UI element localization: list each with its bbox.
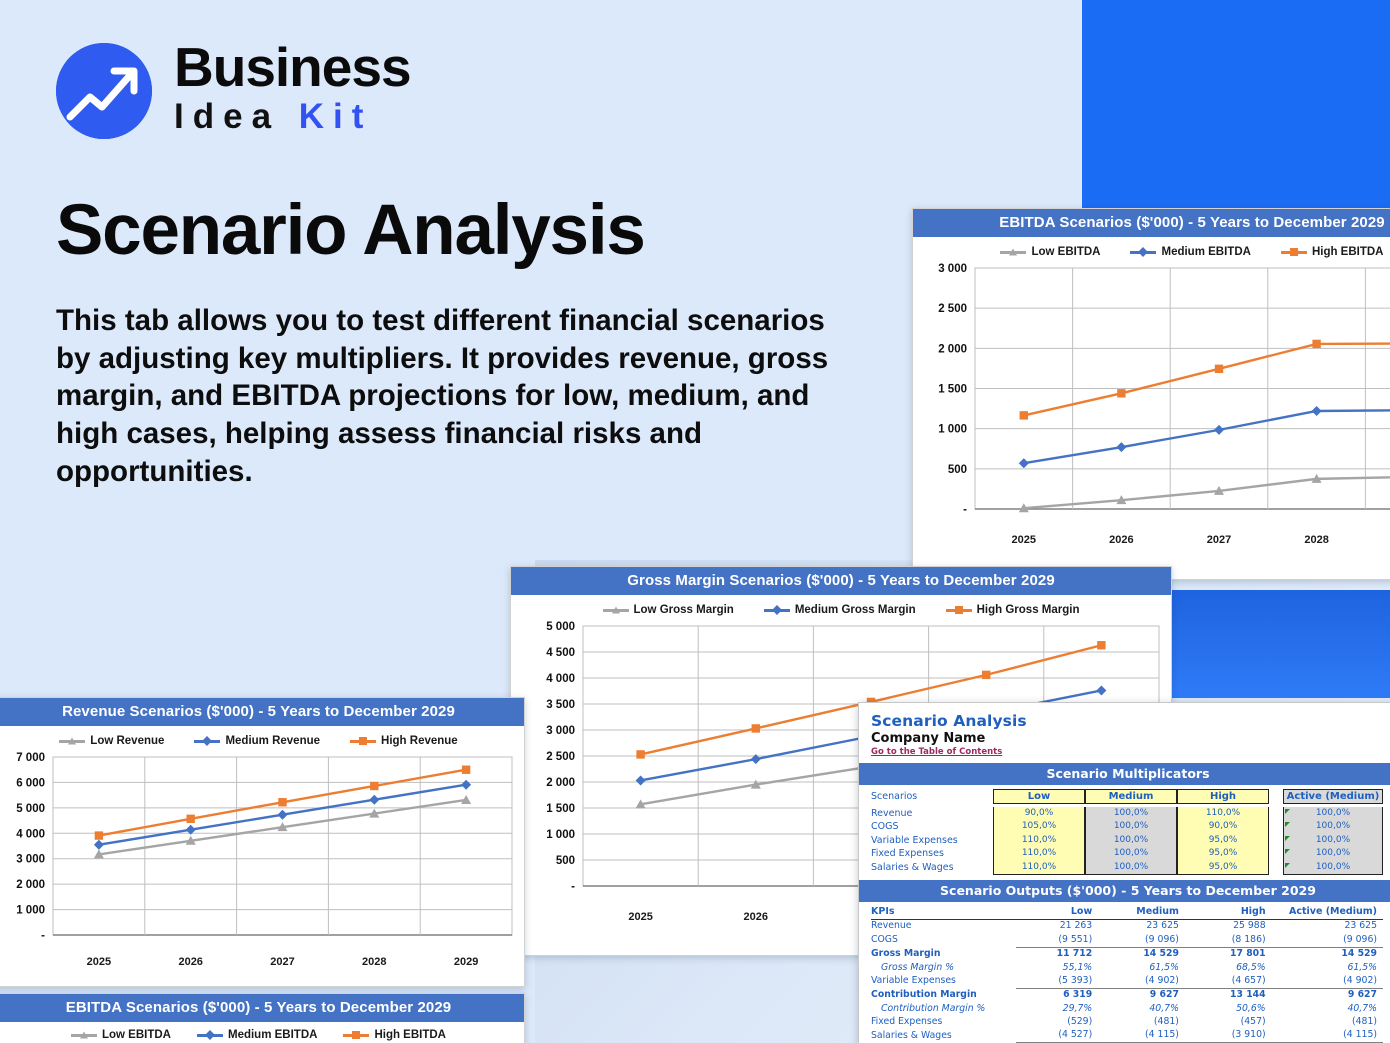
legend-item-low[interactable]: Low EBITDA: [71, 1029, 171, 1041]
multiplicator-row-label: Fixed Expenses: [871, 847, 993, 860]
outputs-value-active: (4 115): [1276, 1029, 1383, 1043]
outputs-value-high: (457): [1189, 1016, 1276, 1029]
outputs-value-medium: (4 115): [1102, 1029, 1189, 1043]
active-column-header: Active (Medium): [1283, 789, 1383, 804]
page-title: Scenario Analysis: [56, 195, 856, 266]
svg-text:5 000: 5 000: [16, 803, 45, 815]
svg-text:-: -: [963, 504, 967, 516]
outputs-col-low: Low: [1016, 905, 1103, 920]
svg-text:500: 500: [556, 855, 575, 867]
multiplicator-cell[interactable]: 105,0%: [994, 820, 1084, 833]
decorative-blue-block-top-right: [1082, 0, 1390, 210]
svg-text:1 000: 1 000: [546, 829, 575, 841]
brand-name-kit: Kit: [299, 97, 373, 136]
high-series-swatch: [946, 609, 972, 612]
active-cell: 100,0%: [1284, 807, 1382, 820]
outputs-row: Contribution Margin6 3199 62713 1449 627: [871, 988, 1383, 1002]
outputs-row: COGS(9 551)(9 096)(8 186)(9 096): [871, 933, 1383, 947]
outputs-value-high: 13 144: [1189, 988, 1276, 1002]
outputs-value-active: (481): [1276, 1016, 1383, 1029]
medium-series-swatch: [1130, 251, 1156, 254]
legend-item-low[interactable]: Low EBITDA: [1000, 246, 1100, 258]
svg-text:1 500: 1 500: [938, 384, 967, 396]
active-cell: 100,0%: [1284, 820, 1382, 833]
svg-text:1 500: 1 500: [546, 803, 575, 815]
header-block: Business Idea Kit Scenario Analysis This…: [56, 40, 856, 491]
multiplicator-column-body: 90,0%105,0%110,0%110,0%110,0%: [993, 807, 1085, 875]
legend-item-high[interactable]: High EBITDA: [1281, 246, 1384, 258]
brand-logo: Business Idea Kit: [56, 40, 856, 143]
medium-series-swatch: [197, 1034, 223, 1037]
ebitda-chart-title: EBITDA Scenarios ($'000) - 5 Years to De…: [913, 209, 1390, 237]
outputs-value-low: (5 393): [1016, 975, 1103, 989]
outputs-value-medium: 9 627: [1102, 988, 1189, 1002]
multiplicator-row-label: Variable Expenses: [871, 834, 993, 847]
svg-text:2025: 2025: [1012, 534, 1036, 546]
growth-arrow-icon: [56, 43, 152, 139]
legend-item-medium[interactable]: Medium Revenue: [194, 735, 320, 747]
multiplicator-row-label: COGS: [871, 820, 993, 833]
outputs-value-medium: 40,7%: [1102, 1002, 1189, 1015]
revenue-chart-title: Revenue Scenarios ($'000) - 5 Years to D…: [0, 698, 524, 726]
svg-text:2026: 2026: [1109, 534, 1133, 546]
decorative-blue-block-middle-right: [1172, 590, 1390, 698]
multiplicator-cell[interactable]: 110,0%: [994, 861, 1084, 874]
outputs-kpi-label: COGS: [871, 933, 1016, 947]
outputs-value-low: (4 527): [1016, 1029, 1103, 1043]
outputs-kpi-label: Variable Expenses: [871, 975, 1016, 989]
legend-item-low[interactable]: Low Revenue: [59, 735, 164, 747]
scenario-outputs-table: KPIs Low Medium High Active (Medium) Rev…: [871, 905, 1383, 1043]
outputs-value-high: 68,5%: [1189, 961, 1276, 974]
active-cell: 100,0%: [1284, 834, 1382, 847]
svg-text:4 000: 4 000: [16, 828, 45, 840]
multiplicator-column-body: 100,0%100,0%100,0%100,0%100,0%: [1085, 807, 1177, 875]
svg-text:3 000: 3 000: [546, 725, 575, 737]
legend-label-high: High Gross Margin: [977, 604, 1080, 616]
legend-label-high: High EBITDA: [374, 1029, 446, 1041]
outputs-row: Contribution Margin %29,7%40,7%50,6%40,7…: [871, 1002, 1383, 1015]
outputs-kpi-label: Contribution Margin %: [871, 1002, 1016, 1015]
outputs-value-active: 61,5%: [1276, 961, 1383, 974]
multiplicator-cell[interactable]: 100,0%: [1086, 807, 1176, 820]
outputs-kpi-label: Gross Margin %: [871, 961, 1016, 974]
high-series-swatch: [343, 1034, 369, 1037]
high-series-swatch: [350, 740, 376, 743]
svg-text:2027: 2027: [1207, 534, 1231, 546]
page-description: This tab allows you to test different fi…: [56, 302, 846, 491]
svg-text:2025: 2025: [87, 956, 111, 968]
multiplicator-cell[interactable]: 95,0%: [1178, 861, 1268, 874]
legend-label-medium: Medium EBITDA: [228, 1029, 317, 1041]
multiplicator-active-column: Active (Medium)100,0%100,0%100,0%100,0%1…: [1283, 789, 1383, 875]
ebitda-bottom-chart-title: EBITDA Scenarios ($'000) - 5 Years to De…: [0, 994, 524, 1022]
active-column-body: 100,0%100,0%100,0%100,0%100,0%: [1283, 807, 1383, 875]
multiplicator-column-medium[interactable]: Medium100,0%100,0%100,0%100,0%100,0%: [1085, 789, 1177, 875]
sheet-title: Scenario Analysis: [859, 703, 1390, 730]
svg-text:5 000: 5 000: [546, 621, 575, 633]
outputs-kpi-label: Gross Margin: [871, 947, 1016, 961]
multiplicator-cell[interactable]: 110,0%: [1178, 807, 1268, 820]
scenario-multiplicators-grid: ScenariosRevenueCOGSVariable ExpensesFix…: [859, 785, 1390, 875]
svg-text:3 000: 3 000: [16, 854, 45, 866]
svg-text:6 000: 6 000: [16, 777, 45, 789]
multiplicator-cell[interactable]: 90,0%: [1178, 820, 1268, 833]
low-series-swatch: [71, 1034, 97, 1037]
outputs-header-row: KPIs Low Medium High Active (Medium): [871, 905, 1383, 920]
outputs-value-medium: 61,5%: [1102, 961, 1189, 974]
multiplicator-column-high[interactable]: High110,0%90,0%95,0%95,0%95,0%: [1177, 789, 1269, 875]
outputs-value-low: (9 551): [1016, 933, 1103, 947]
svg-text:-: -: [41, 930, 45, 942]
low-series-swatch: [59, 740, 85, 743]
outputs-kpi-label: Fixed Expenses: [871, 1016, 1016, 1029]
svg-text:-: -: [571, 881, 575, 893]
outputs-value-active: 14 529: [1276, 947, 1383, 961]
multiplicator-label-header: Scenarios: [871, 789, 993, 804]
legend-item-medium[interactable]: Medium EBITDA: [197, 1029, 317, 1041]
outputs-value-low: 29,7%: [1016, 1002, 1103, 1015]
multiplicator-cell[interactable]: 100,0%: [1086, 820, 1176, 833]
scenario-multiplicators-header: Scenario Multiplicators: [859, 763, 1390, 785]
multiplicator-column-body: 110,0%90,0%95,0%95,0%95,0%: [1177, 807, 1269, 875]
svg-text:2025: 2025: [628, 911, 652, 923]
svg-text:1 000: 1 000: [16, 905, 45, 917]
outputs-value-medium: (481): [1102, 1016, 1189, 1029]
legend-item-low[interactable]: Low Gross Margin: [603, 604, 734, 616]
low-series-swatch: [1000, 251, 1026, 254]
svg-text:2026: 2026: [744, 911, 768, 923]
multiplicator-row-label: Salaries & Wages: [871, 861, 993, 874]
outputs-value-low: 21 263: [1016, 920, 1103, 934]
legend-label-medium: Medium Gross Margin: [795, 604, 916, 616]
outputs-col-kpis: KPIs: [871, 905, 1016, 920]
outputs-value-high: 17 801: [1189, 947, 1276, 961]
medium-series-swatch: [194, 740, 220, 743]
multiplicator-cell[interactable]: 95,0%: [1178, 847, 1268, 860]
svg-text:4 500: 4 500: [546, 647, 575, 659]
low-series-swatch: [603, 609, 629, 612]
outputs-value-active: (9 096): [1276, 933, 1383, 947]
ebitda-bottom-chart-legend: Low EBITDA Medium EBITDA High EBITDA: [0, 1022, 524, 1041]
svg-text:2 500: 2 500: [938, 303, 967, 315]
scenario-analysis-panel: Scenario Analysis Company Name Go to the…: [858, 702, 1390, 1043]
svg-text:2 500: 2 500: [546, 751, 575, 763]
multiplicator-column-header: Low: [993, 789, 1085, 804]
multiplicator-columns: Low90,0%105,0%110,0%110,0%110,0%Medium10…: [993, 789, 1269, 875]
multiplicator-cell[interactable]: 110,0%: [994, 834, 1084, 847]
outputs-col-active: Active (Medium): [1276, 905, 1383, 920]
svg-text:3 000: 3 000: [938, 263, 967, 275]
multiplicator-column-header: Medium: [1085, 789, 1177, 804]
legend-item-medium[interactable]: Medium Gross Margin: [764, 604, 916, 616]
svg-text:2 000: 2 000: [546, 777, 575, 789]
outputs-col-high: High: [1189, 905, 1276, 920]
outputs-value-medium: 14 529: [1102, 947, 1189, 961]
legend-item-medium[interactable]: Medium EBITDA: [1130, 246, 1250, 258]
outputs-row: Variable Expenses(5 393)(4 902)(4 657)(4…: [871, 975, 1383, 989]
outputs-value-high: 50,6%: [1189, 1002, 1276, 1015]
multiplicator-row-label: Revenue: [871, 807, 993, 820]
outputs-col-medium: Medium: [1102, 905, 1189, 920]
legend-label-medium: Medium EBITDA: [1161, 246, 1250, 258]
svg-text:1 000: 1 000: [938, 424, 967, 436]
active-cell: 100,0%: [1284, 861, 1382, 874]
legend-label-low: Low EBITDA: [102, 1029, 171, 1041]
brand-name-line1: Business: [174, 40, 411, 95]
outputs-row: Gross Margin %55,1%61,5%68,5%61,5%: [871, 961, 1383, 974]
outputs-value-high: (3 910): [1189, 1029, 1276, 1043]
outputs-value-active: 9 627: [1276, 988, 1383, 1002]
gross-margin-chart-title: Gross Margin Scenarios ($'000) - 5 Years…: [511, 567, 1171, 595]
multiplicator-row-labels: ScenariosRevenueCOGSVariable ExpensesFix…: [871, 789, 993, 875]
svg-text:2 000: 2 000: [938, 343, 967, 355]
svg-text:3 500: 3 500: [546, 699, 575, 711]
revenue-chart-legend: Low Revenue Medium Revenue High Revenue: [0, 726, 524, 751]
svg-text:2 000: 2 000: [16, 879, 45, 891]
revenue-chart-card: Revenue Scenarios ($'000) - 5 Years to D…: [0, 697, 525, 987]
multiplicator-cell[interactable]: 110,0%: [994, 847, 1084, 860]
active-cell: 100,0%: [1284, 847, 1382, 860]
table-of-contents-link[interactable]: Go to the Table of Contents: [859, 746, 1390, 757]
multiplicator-cell[interactable]: 100,0%: [1086, 847, 1176, 860]
legend-item-high[interactable]: High Revenue: [350, 735, 458, 747]
outputs-value-active: 40,7%: [1276, 1002, 1383, 1015]
legend-item-high[interactable]: High EBITDA: [343, 1029, 446, 1041]
sheet-company-name: Company Name: [859, 730, 1390, 746]
outputs-value-medium: (9 096): [1102, 933, 1189, 947]
ebitda-chart-legend: Low EBITDA Medium EBITDA High EBITDA: [913, 237, 1390, 262]
outputs-value-high: (4 657): [1189, 975, 1276, 989]
outputs-value-low: (529): [1016, 1016, 1103, 1029]
svg-text:4 000: 4 000: [546, 673, 575, 685]
high-series-swatch: [1281, 251, 1307, 254]
svg-text:2029: 2029: [454, 956, 478, 968]
outputs-body: Revenue21 26323 62525 98823 625COGS(9 55…: [871, 920, 1383, 1043]
legend-label-low: Low EBITDA: [1031, 246, 1100, 258]
medium-series-swatch: [764, 609, 790, 612]
scenario-outputs-header: Scenario Outputs ($'000) - 5 Years to De…: [859, 880, 1390, 902]
outputs-row: Salaries & Wages(4 527)(4 115)(3 910)(4 …: [871, 1029, 1383, 1043]
ebitda-chart-bottom-card: EBITDA Scenarios ($'000) - 5 Years to De…: [0, 993, 525, 1043]
outputs-kpi-label: Contribution Margin: [871, 988, 1016, 1002]
ebitda-plot-area: -5001 0001 5002 0002 5003 00020252026202…: [913, 262, 1390, 557]
outputs-value-medium: 23 625: [1102, 920, 1189, 934]
multiplicator-column-header: High: [1177, 789, 1269, 804]
gross-margin-chart-legend: Low Gross Margin Medium Gross Margin Hig…: [511, 595, 1171, 620]
svg-text:2028: 2028: [1304, 534, 1328, 546]
svg-text:2026: 2026: [178, 956, 202, 968]
multiplicator-cell[interactable]: 100,0%: [1086, 861, 1176, 874]
outputs-value-active: (4 902): [1276, 975, 1383, 989]
outputs-value-high: 25 988: [1189, 920, 1276, 934]
outputs-value-high: (8 186): [1189, 933, 1276, 947]
legend-label-high: High EBITDA: [1312, 246, 1384, 258]
outputs-row: Gross Margin11 71214 52917 80114 529: [871, 947, 1383, 961]
ebitda-chart-card: EBITDA Scenarios ($'000) - 5 Years to De…: [912, 208, 1390, 580]
outputs-value-active: 23 625: [1276, 920, 1383, 934]
multiplicator-cell[interactable]: 100,0%: [1086, 834, 1176, 847]
brand-name-idea: Idea: [174, 97, 280, 136]
outputs-kpi-label: Salaries & Wages: [871, 1029, 1016, 1043]
legend-label-low: Low Revenue: [90, 735, 164, 747]
legend-item-high[interactable]: High Gross Margin: [946, 604, 1080, 616]
svg-text:2028: 2028: [362, 956, 386, 968]
multiplicator-cell[interactable]: 95,0%: [1178, 834, 1268, 847]
legend-label-high: High Revenue: [381, 735, 458, 747]
multiplicator-column-low[interactable]: Low90,0%105,0%110,0%110,0%110,0%: [993, 789, 1085, 875]
outputs-value-low: 55,1%: [1016, 961, 1103, 974]
outputs-row: Fixed Expenses(529)(481)(457)(481): [871, 1016, 1383, 1029]
outputs-value-low: 6 319: [1016, 988, 1103, 1002]
svg-text:2027: 2027: [270, 956, 294, 968]
revenue-plot-area: -1 0002 0003 0004 0005 0006 0007 0002025…: [0, 751, 524, 979]
legend-label-medium: Medium Revenue: [225, 735, 320, 747]
outputs-kpi-label: Revenue: [871, 920, 1016, 934]
outputs-value-medium: (4 902): [1102, 975, 1189, 989]
svg-text:7 000: 7 000: [16, 752, 45, 764]
multiplicator-cell[interactable]: 90,0%: [994, 807, 1084, 820]
outputs-row: Revenue21 26323 62525 98823 625: [871, 920, 1383, 934]
legend-label-low: Low Gross Margin: [634, 604, 734, 616]
outputs-value-low: 11 712: [1016, 947, 1103, 961]
scenario-outputs-wrap: KPIs Low Medium High Active (Medium) Rev…: [859, 902, 1390, 1043]
svg-text:500: 500: [948, 464, 967, 476]
